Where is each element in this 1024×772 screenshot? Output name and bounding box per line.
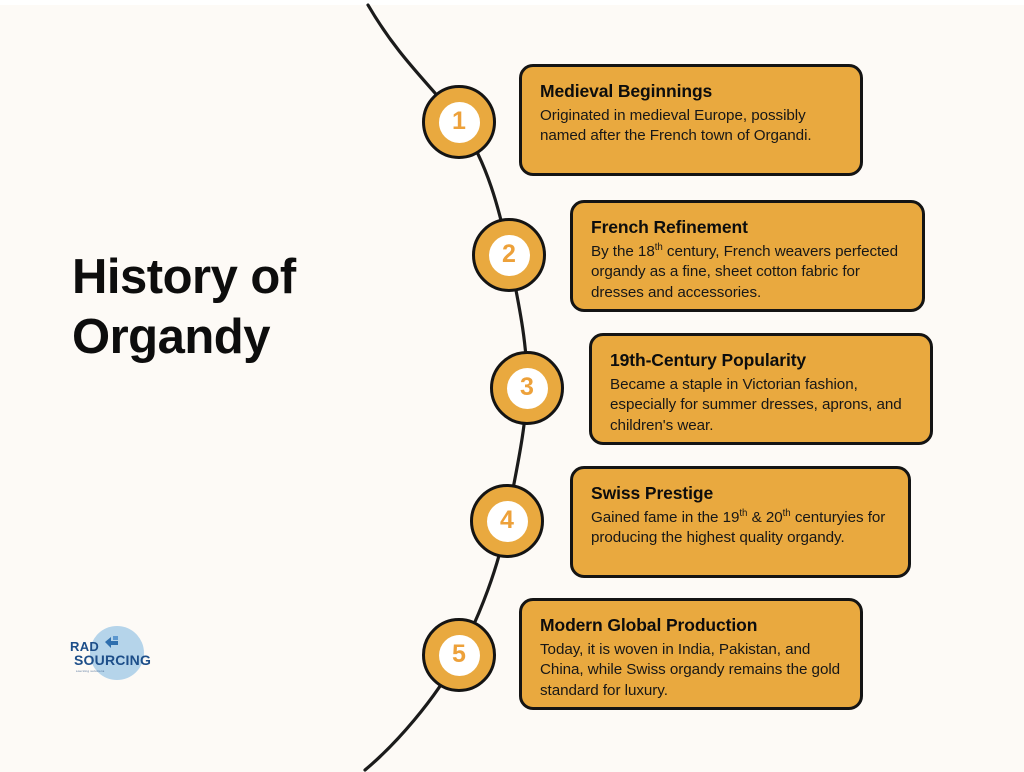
- timeline-node-3[interactable]: 3: [490, 351, 564, 425]
- timeline-card-1[interactable]: Medieval Beginnings Originated in mediev…: [519, 64, 863, 176]
- timeline-card-5-body: Today, it is woven in India, Pakistan, a…: [540, 640, 842, 702]
- timeline-node-2-number: 2: [489, 235, 530, 276]
- logo-text-sourcing: SOURCING: [74, 652, 151, 668]
- logo-tagline: sourcing solutions: [76, 669, 105, 673]
- infographic-canvas: History of Organdy RAD SOURCING sourcing…: [0, 0, 1024, 772]
- timeline-card-5[interactable]: Modern Global Production Today, it is wo…: [519, 598, 863, 710]
- timeline-card-2-body: By the 18th century, French weavers perf…: [591, 242, 904, 304]
- timeline-card-3-title: 19th-Century Popularity: [610, 350, 912, 372]
- page-title: History of Organdy: [72, 248, 372, 368]
- timeline-card-3[interactable]: 19th-Century Popularity Became a staple …: [589, 333, 933, 445]
- cube-arrow-icon: [105, 636, 119, 649]
- top-edge-strip: [0, 0, 1024, 5]
- timeline-card-4-body: Gained fame in the 19th & 20th centuryie…: [591, 508, 890, 549]
- timeline-node-1-number: 1: [439, 102, 480, 143]
- timeline-card-1-body: Originated in medieval Europe, possibly …: [540, 106, 842, 147]
- timeline-card-4-title: Swiss Prestige: [591, 483, 890, 505]
- timeline-node-4-number: 4: [487, 501, 528, 542]
- page-title-line-2: Organdy: [72, 308, 372, 368]
- timeline-node-1[interactable]: 1: [422, 85, 496, 159]
- timeline-card-5-title: Modern Global Production: [540, 615, 842, 637]
- timeline-card-4[interactable]: Swiss Prestige Gained fame in the 19th &…: [570, 466, 911, 578]
- timeline-card-2[interactable]: French Refinement By the 18th century, F…: [570, 200, 925, 312]
- page-title-line-1: History of: [72, 248, 372, 308]
- brand-logo: RAD SOURCING sourcing solutions: [62, 622, 162, 684]
- timeline-node-5-number: 5: [439, 635, 480, 676]
- timeline-card-3-body: Became a staple in Victorian fashion, es…: [610, 375, 912, 437]
- timeline-node-5[interactable]: 5: [422, 618, 496, 692]
- timeline-node-4[interactable]: 4: [470, 484, 544, 558]
- timeline-node-2[interactable]: 2: [472, 218, 546, 292]
- timeline-card-2-title: French Refinement: [591, 217, 904, 239]
- timeline-node-3-number: 3: [507, 368, 548, 409]
- timeline-card-1-title: Medieval Beginnings: [540, 81, 842, 103]
